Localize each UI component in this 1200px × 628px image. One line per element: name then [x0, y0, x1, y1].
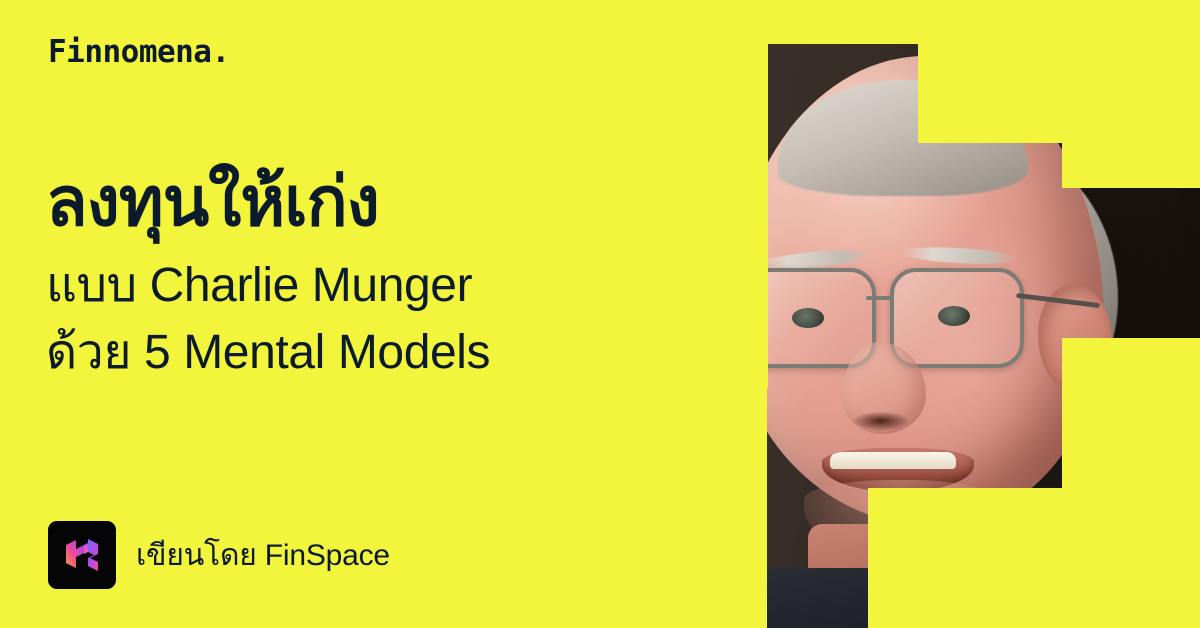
mask-block-upper-right	[918, 44, 1200, 143]
mask-block-bottom-right	[868, 488, 1200, 628]
glasses-bridge	[866, 296, 894, 300]
mask-block-right-step	[1062, 143, 1200, 188]
headline-line-1: ลงทุนให้เก่ง	[46, 168, 646, 236]
mask-block-lower-left	[668, 388, 767, 628]
article-cover-card: Finnomena. ลงทุนให้เก่ง แบบ Charlie Mung…	[0, 0, 1200, 628]
nostril	[854, 412, 908, 430]
mask-block-top-left-strip	[668, 0, 768, 388]
lens-right	[890, 268, 1024, 368]
glasses-temple	[1016, 293, 1100, 308]
headline-line-2: แบบ Charlie Munger	[46, 252, 646, 319]
eyeglasses	[738, 268, 1094, 360]
byline-author-label: เขียนโดย FinSpace	[136, 532, 390, 579]
portrait-photo	[668, 0, 1200, 628]
teeth	[830, 452, 956, 469]
mask-block-right-lower	[1062, 338, 1200, 488]
brand-logo-finnomena[interactable]: Finnomena.	[48, 34, 230, 70]
byline: เขียนโดย FinSpace	[48, 521, 390, 589]
headline-group: ลงทุนให้เก่ง แบบ Charlie Munger ด้วย 5 M…	[46, 168, 646, 386]
mask-block-top-notch	[768, 0, 1200, 44]
finspace-logo-icon	[48, 521, 116, 589]
headline-line-3: ด้วย 5 Mental Models	[46, 319, 646, 386]
